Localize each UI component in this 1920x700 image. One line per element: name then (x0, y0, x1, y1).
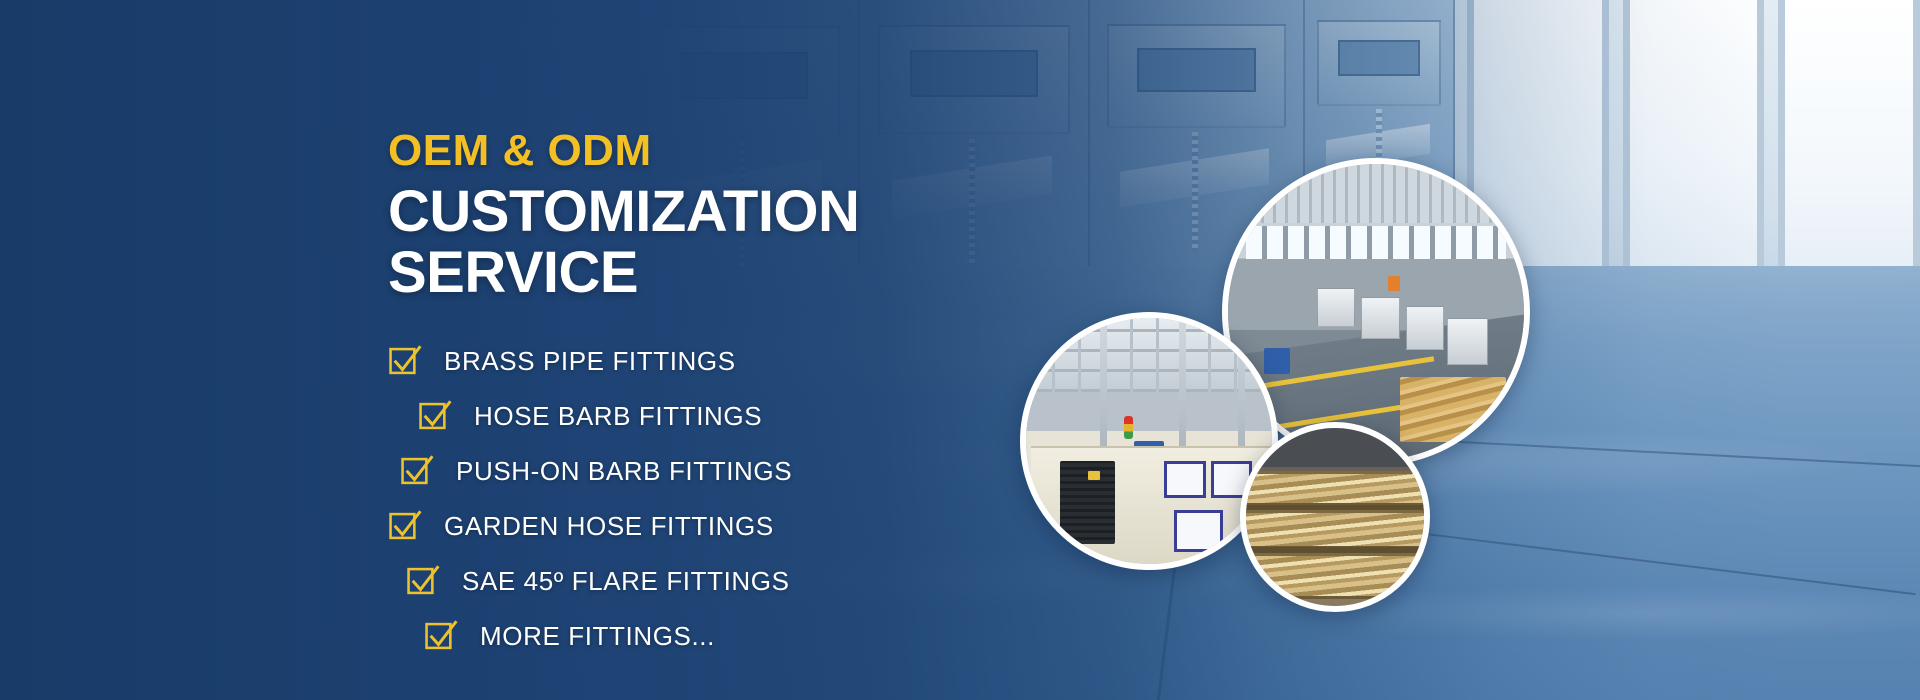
checkbox-checked-icon (388, 509, 422, 543)
feature-item: GARDEN HOSE FITTINGS (388, 499, 1088, 554)
feature-list: BRASS PIPE FITTINGS HOSE BARB FITTINGS P… (388, 334, 1088, 664)
feature-item: BRASS PIPE FITTINGS (388, 334, 1088, 389)
feature-label: MORE FITTINGS... (480, 621, 715, 652)
feature-label: BRASS PIPE FITTINGS (444, 346, 736, 377)
banner-headline: CUSTOMIZATION SERVICE (388, 182, 1088, 304)
feature-label: GARDEN HOSE FITTINGS (444, 511, 774, 542)
checkbox-checked-icon (388, 344, 422, 378)
checkbox-checked-icon (424, 619, 458, 653)
cnc-machining-shop-photo (1020, 312, 1278, 570)
checkbox-checked-icon (418, 399, 452, 433)
feature-item: SAE 45º FLARE FITTINGS (406, 554, 1088, 609)
banner-eyebrow: OEM & ODM (388, 128, 1088, 174)
promo-banner: OEM & ODM CUSTOMIZATION SERVICE BRASS PI… (0, 0, 1920, 700)
feature-item: MORE FITTINGS... (424, 609, 1088, 664)
checkbox-checked-icon (406, 564, 440, 598)
feature-label: SAE 45º FLARE FITTINGS (462, 566, 790, 597)
banner-text-block: OEM & ODM CUSTOMIZATION SERVICE BRASS PI… (388, 128, 1088, 664)
feature-label: PUSH-ON BARB FITTINGS (456, 456, 792, 487)
feature-item: HOSE BARB FITTINGS (418, 389, 1088, 444)
checkbox-checked-icon (400, 454, 434, 488)
brass-rod-stock-photo (1240, 422, 1430, 612)
feature-item: PUSH-ON BARB FITTINGS (400, 444, 1088, 499)
feature-label: HOSE BARB FITTINGS (474, 401, 762, 432)
